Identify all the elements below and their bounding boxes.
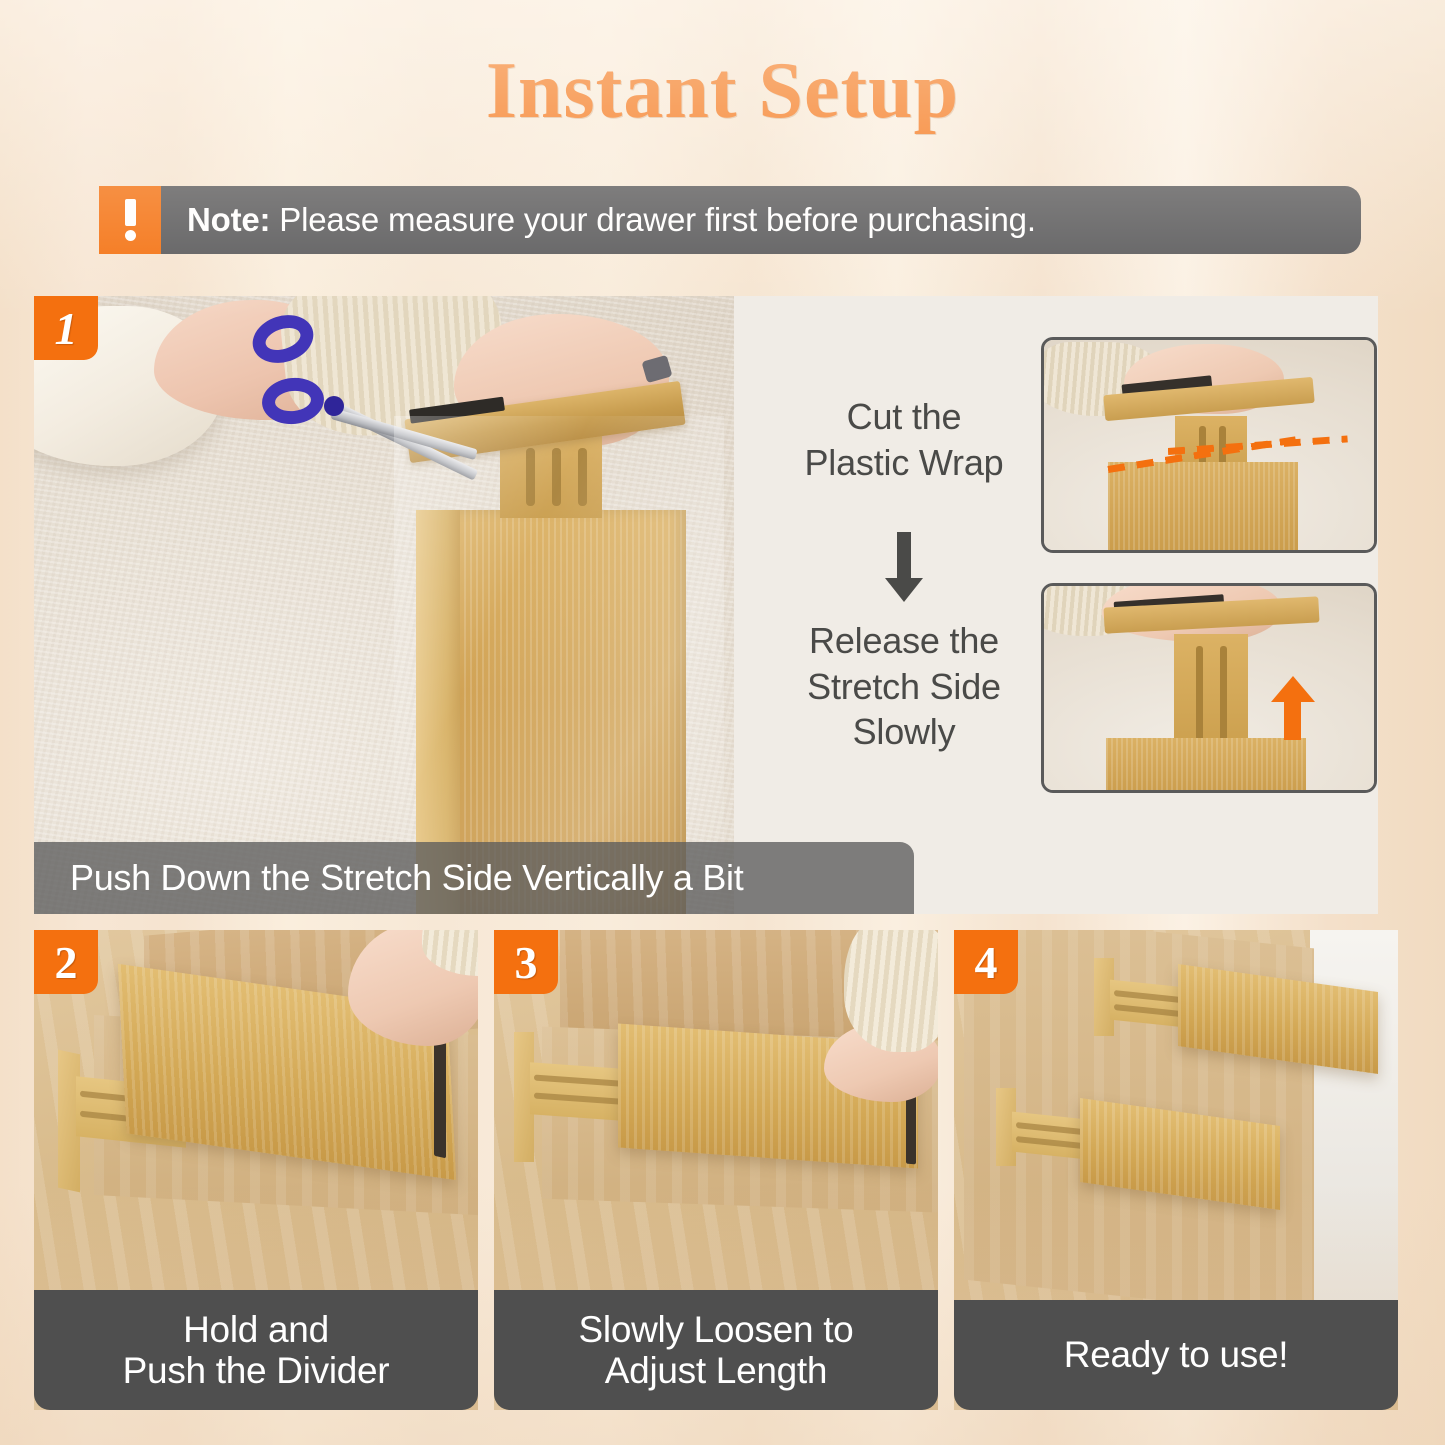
instruction-line: Cut the [847,396,962,437]
instruction-line: Plastic Wrap [805,442,1004,483]
caption-line: Push the Divider [123,1350,390,1391]
step-2-badge: 2 [34,930,98,994]
instruction-cut-plastic-wrap: Cut the Plastic Wrap [734,394,1074,485]
step-4-caption: Ready to use! [954,1300,1398,1410]
scissor-pivot [324,396,344,416]
inset-release-detail [1041,583,1377,793]
step-2-caption: Hold and Push the Divider [34,1290,478,1410]
infographic-page: Instant Setup Note: Please measure your … [0,0,1445,1445]
step-1-caption: Push Down the Stretch Side Vertically a … [34,842,914,914]
caption-line: Hold and [183,1309,329,1350]
step-3-panel: 3 Slowly Loosen to Adjust Length [494,930,938,1410]
instruction-line: Slowly [853,711,956,752]
note-text: Note: Please measure your drawer first b… [161,186,1036,254]
step-4-badge: 4 [954,930,1018,994]
sleeve [844,930,938,1052]
caption-line: Ready to use! [1064,1334,1288,1375]
step-4-panel: 4 Ready to use! [954,930,1398,1410]
page-title: Instant Setup [0,46,1445,137]
instruction-line: Release the [809,620,999,661]
bamboo-slotted-neck [1174,634,1248,754]
note-body: Please measure your drawer first before … [279,201,1036,239]
note-bar: Note: Please measure your drawer first b… [99,186,1361,254]
step-3-caption: Slowly Loosen to Adjust Length [494,1290,938,1410]
bamboo-board [1108,462,1298,550]
step-3-badge: 3 [494,930,558,994]
exclamation-icon [99,186,161,254]
caption-line: Slowly Loosen to [579,1309,854,1350]
orange-up-arrow-icon [1284,698,1301,740]
step-1-photo [34,296,734,914]
step-2-panel: 2 Hold and Push the Divider [34,930,478,1410]
caption-line: Push Down the Stretch Side Vertically a … [70,858,743,898]
note-label: Note: [187,201,270,239]
instruction-release-stretch-side: Release the Stretch Side Slowly [734,618,1074,755]
step-1-instructions: Cut the Plastic Wrap Release the Stretch… [734,296,1074,914]
inset-push-down-detail [1041,337,1377,553]
bamboo-board [1106,738,1306,793]
step-1-badge: 1 [34,296,98,360]
arrow-down-icon [897,532,911,580]
caption-line: Adjust Length [605,1350,827,1391]
step-1-panel: 1 Cut the Plastic Wrap [34,296,1378,914]
instruction-line: Stretch Side [807,666,1001,707]
